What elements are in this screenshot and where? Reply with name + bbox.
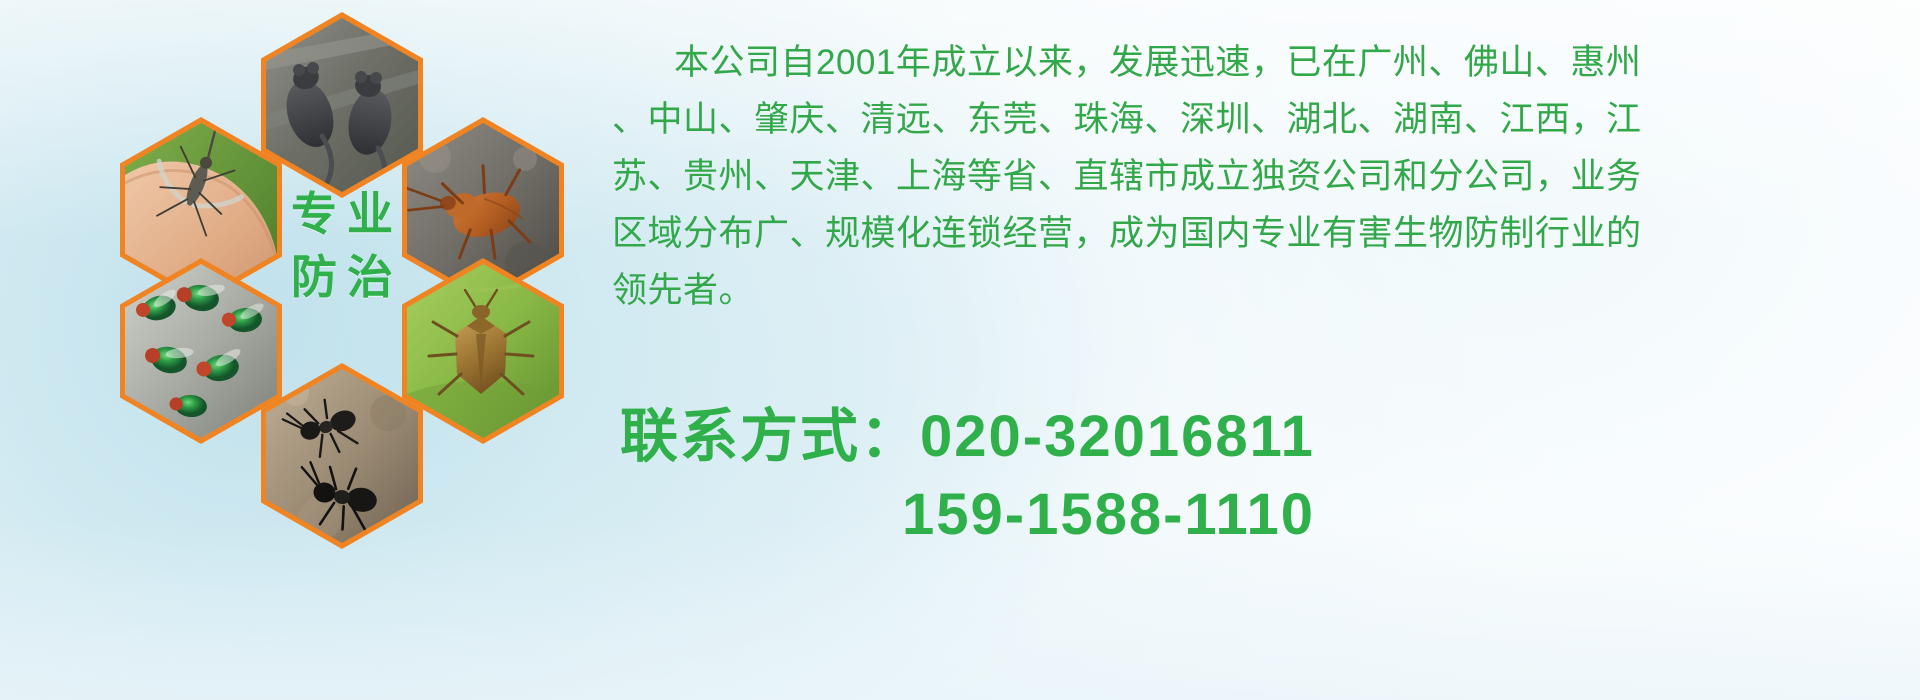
hex-stinkbug-image — [407, 264, 559, 438]
description-line-1: 本公司自2001年成立以来，发展迅速，已在广州、佛山、惠州 — [612, 34, 1912, 91]
description-line-3: 苏、贵州、天津、上海等省、直辖市成立独资公司和分公司，业务 — [612, 148, 1912, 205]
description-line-2: 、中山、肇庆、清远、东莞、珠海、深圳、湖北、湖南、江西，江 — [612, 91, 1912, 148]
stinkbug-illustration — [407, 264, 559, 438]
description-line-5: 领先者。 — [612, 262, 1912, 319]
slogan-line-2: 防治 — [281, 249, 403, 307]
description-line-4: 区域分布广、规模化连锁经营，成为国内专业有害生物防制行业的 — [612, 205, 1912, 262]
hexagon-photo-cluster: 专业 防治 — [92, 6, 592, 566]
flies-illustration — [125, 264, 277, 438]
contact-primary-line[interactable]: 联系方式：020-32016811 — [620, 398, 1900, 476]
contact-secondary-line[interactable]: 159-1588-1110 — [620, 476, 1900, 554]
company-description: 本公司自2001年成立以来，发展迅速，已在广州、佛山、惠州 、中山、肇庆、清远、… — [612, 34, 1912, 319]
contact-info: 联系方式：020-32016811 159-1588-1110 — [620, 398, 1900, 554]
hex-flies[interactable] — [120, 258, 282, 444]
ants-illustration — [266, 369, 418, 543]
hex-ants-image — [266, 369, 418, 543]
hex-ants[interactable] — [261, 363, 423, 549]
slogan-line-1: 专业 — [281, 186, 403, 244]
promo-banner: 专业 防治 本公司自2001年成立以来，发展迅速，已在广州、佛山、惠州 、中山、… — [0, 0, 1920, 700]
hex-stinkbug[interactable] — [402, 258, 564, 444]
hex-center-slogan: 专业 防治 — [261, 153, 423, 339]
hex-flies-image — [125, 264, 277, 438]
